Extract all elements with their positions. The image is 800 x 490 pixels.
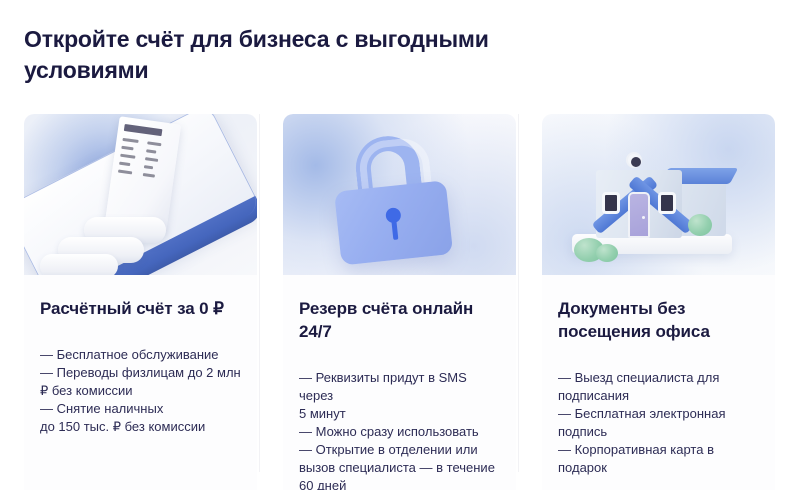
lock-icon: [329, 130, 453, 265]
attic-window-icon: [626, 152, 642, 168]
page-title: Откройте счёт для бизнеса с выгодными ус…: [24, 24, 564, 86]
list-item: — Снятие наличных до 150 тыс. ₽ без коми…: [40, 400, 241, 436]
card-title: Документы без посещения офиса: [558, 297, 759, 343]
feature-cards: Расчётный счёт за 0 ₽ — Бесплатное обслу…: [24, 114, 776, 490]
list-item: — Корпоративная карта в подарок: [558, 441, 759, 477]
card-feature-list: — Выезд специалиста для подписания — Бес…: [558, 369, 759, 477]
list-item: — Открытие в отделении или вызов специал…: [299, 441, 500, 490]
bush-icon: [596, 244, 618, 262]
card-feature-list: — Бесплатное обслуживание — Переводы физ…: [40, 346, 241, 436]
feature-card-settlement-account[interactable]: Расчётный счёт за 0 ₽ — Бесплатное обслу…: [24, 114, 257, 490]
list-item: — Переводы физлицам до 2 млн ₽ без комис…: [40, 364, 241, 400]
promo-page: Откройте счёт для бизнеса с выгодными ус…: [0, 0, 800, 490]
list-item: — Бесплатное обслуживание: [40, 346, 241, 364]
house-icon: [570, 130, 748, 264]
door-icon: [628, 192, 650, 238]
bush-icon: [688, 214, 712, 236]
receipt-curl: [40, 254, 118, 275]
list-item: — Выезд специалиста для подписания: [558, 369, 759, 405]
list-item: — Можно сразу использовать: [299, 423, 500, 441]
list-item: — Бесплатная электронная подпись: [558, 405, 759, 441]
phone-receipt-illustration: [24, 114, 257, 275]
list-item: — Реквизиты придут в SMS через 5 минут: [299, 369, 500, 423]
padlock-illustration: [283, 114, 516, 275]
window-icon: [658, 192, 676, 214]
window-icon: [602, 192, 620, 214]
feature-card-remote-documents[interactable]: Документы без посещения офиса — Выезд сп…: [542, 114, 775, 490]
house-illustration: [542, 114, 775, 275]
card-feature-list: — Реквизиты придут в SMS через 5 минут —…: [299, 369, 500, 490]
card-title: Расчётный счёт за 0 ₽: [40, 297, 241, 320]
card-title: Резерв счёта онлайн 24/7: [299, 297, 500, 343]
feature-card-online-reserve[interactable]: Резерв счёта онлайн 24/7 — Реквизиты при…: [283, 114, 516, 490]
